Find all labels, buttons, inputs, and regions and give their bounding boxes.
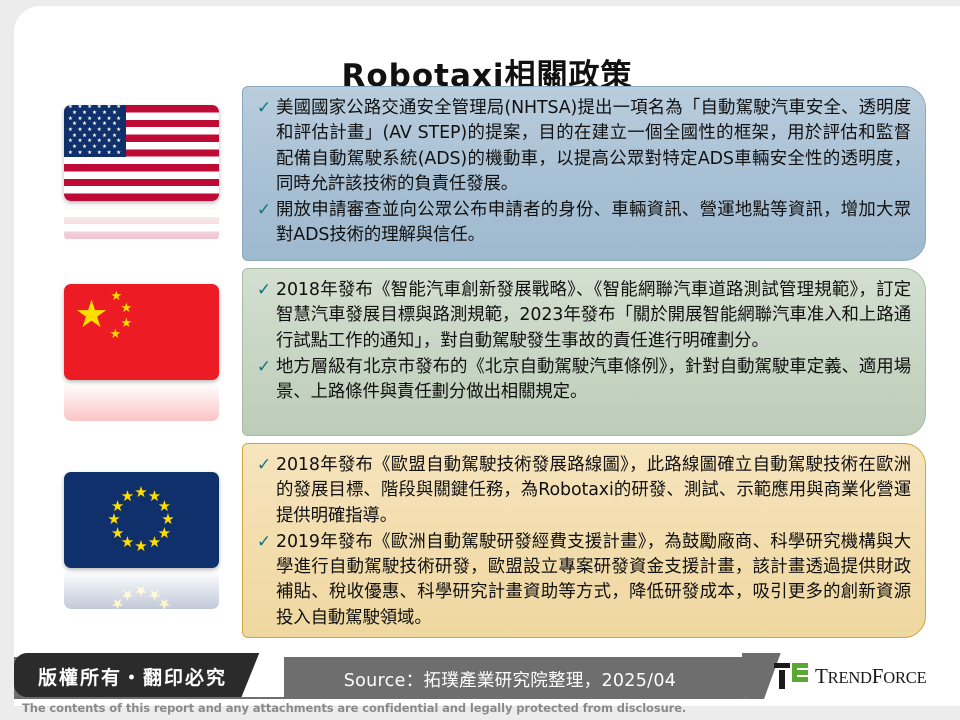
flag-wrap-us: ★★★★★★ ★★★★★ ★★★★★★ ★★★★★ ★★★★★★ ★★★★★ ★… (64, 105, 219, 242)
trendforce-logo: TRENDFORCE (742, 653, 960, 699)
copyright-tag: 版權所有・翻印必究 (14, 653, 284, 697)
slide-card: TRI Robotaxi相關政策 ★★★★★★ ★★★★★ ★★★★★★ ★★★… (14, 6, 960, 706)
trendforce-wordmark: TRENDFORCE (815, 664, 926, 689)
cn-flag-small-star: ★ (121, 317, 133, 330)
bullet-text: 2018年發布《智能汽車創新發展戰略》、《智能網聯汽車道路測試管理規範》，訂定智… (276, 278, 911, 354)
policy-box-us: ✓ 美國國家公路交通安全管理局(NHTSA)提出一項名為「自動駕駛汽車安全、透明… (242, 86, 926, 261)
cn-flag-icon: ★ ★ ★ ★ ★ (64, 284, 219, 380)
flag-wrap-eu: ★★★★★★★★★★★★ ★★★★★★★★★★★★ (64, 472, 219, 609)
check-icon: ✓ (252, 530, 276, 555)
cn-flag-small-star: ★ (110, 328, 122, 341)
bullet-text: 2019年發布《歐洲自動駕駛研發經費支援計畫》，為鼓勵廠商、科學研究機構與大學進… (276, 530, 911, 631)
bullet-text: 美國國家公路交通安全管理局(NHTSA)提出一項名為「自動駕駛汽車安全、透明度和… (276, 96, 911, 197)
eu-flag-reflection: ★★★★★★★★★★★★ (64, 569, 219, 609)
flag-cell-us: ★★★★★★ ★★★★★ ★★★★★★ ★★★★★ ★★★★★★ ★★★★★ ★… (58, 86, 224, 261)
eu-flag-star: ★ (120, 489, 136, 505)
logo-letter-t: T (815, 664, 828, 688)
bullet-item: ✓ 開放申請審查並向公眾公布申請者的身份、車輛資訊、營運地點等資訊，增加大眾對A… (252, 198, 911, 249)
us-flag-icon: ★★★★★★ ★★★★★ ★★★★★★ ★★★★★ ★★★★★★ ★★★★★ ★… (64, 105, 219, 201)
policy-box-eu: ✓ 2018年發布《歐盟自動駕駛技術發展路線圖》，此路線圖確立自動駕駛技術在歐洲… (242, 443, 926, 638)
bullet-item: ✓ 2018年發布《歐盟自動駕駛技術發展路線圖》，此路線圖確立自動駕駛技術在歐洲… (252, 453, 911, 529)
check-icon: ✓ (252, 278, 276, 303)
us-flag-canton: ★★★★★★ ★★★★★ ★★★★★★ ★★★★★ ★★★★★★ ★★★★★ ★… (64, 105, 126, 157)
policy-box-china: ✓ 2018年發布《智能汽車創新發展戰略》、《智能網聯汽車道路測試管理規範》，訂… (242, 268, 926, 436)
logo-letters-rend: REND (828, 668, 872, 687)
logo-letter-f: F (872, 664, 883, 688)
flag-cell-china: ★ ★ ★ ★ ★ (58, 268, 224, 436)
bullet-item: ✓ 2018年發布《智能汽車創新發展戰略》、《智能網聯汽車道路測試管理規範》，訂… (252, 278, 911, 354)
disclaimer-text: The contents of this report and any atta… (22, 701, 686, 715)
cn-flag-big-star: ★ (75, 295, 109, 333)
bullet-text: 開放申請審查並向公眾公布申請者的身份、車輛資訊、營運地點等資訊，增加大眾對ADS… (276, 198, 911, 249)
check-icon: ✓ (252, 96, 276, 121)
flag-wrap-china: ★ ★ ★ ★ ★ (64, 284, 219, 421)
source-text: Source：拓璞產業研究院整理，2025/04 (300, 667, 720, 692)
bullet-item: ✓ 美國國家公路交通安全管理局(NHTSA)提出一項名為「自動駕駛汽車安全、透明… (252, 96, 911, 197)
cn-flag-reflection (64, 381, 219, 421)
eu-flag-star: ★ (110, 596, 126, 610)
check-icon: ✓ (252, 355, 276, 380)
policy-row-eu: ★★★★★★★★★★★★ ★★★★★★★★★★★★ ✓ 2018年發布《歐盟自動… (14, 443, 960, 638)
eu-flag-icon: ★★★★★★★★★★★★ (64, 472, 219, 568)
bullet-item: ✓ 2019年發布《歐洲自動駕駛研發經費支援計畫》，為鼓勵廠商、科學研究機構與大… (252, 530, 911, 631)
us-flag-reflection (64, 202, 219, 242)
bullet-text: 地方層級有北京市發布的《北京自動駕駛汽車條例》，針對自動駕駛車定義、適用場景、上… (276, 355, 911, 406)
policy-row-us: ★★★★★★ ★★★★★ ★★★★★★ ★★★★★ ★★★★★★ ★★★★★ ★… (14, 86, 960, 261)
cn-flag-small-star: ★ (121, 302, 133, 315)
flag-cell-eu: ★★★★★★★★★★★★ ★★★★★★★★★★★★ (58, 443, 224, 638)
policy-row-china: ★ ★ ★ ★ ★ ✓ 2018年發布《智能汽車創新發展戰略》、《智能網聯汽車道… (14, 268, 960, 436)
trendforce-mark-icon (774, 663, 808, 689)
copyright-text: 版權所有・翻印必究 (38, 663, 227, 690)
logo-letters-orce: ORCE (883, 668, 926, 687)
bullet-item: ✓ 地方層級有北京市發布的《北京自動駕駛汽車條例》，針對自動駕駛車定義、適用場景… (252, 355, 911, 406)
check-icon: ✓ (252, 453, 276, 478)
check-icon: ✓ (252, 198, 276, 223)
bullet-text: 2018年發布《歐盟自動駕駛技術發展路線圖》，此路線圖確立自動駕駛技術在歐洲的發… (276, 453, 911, 529)
